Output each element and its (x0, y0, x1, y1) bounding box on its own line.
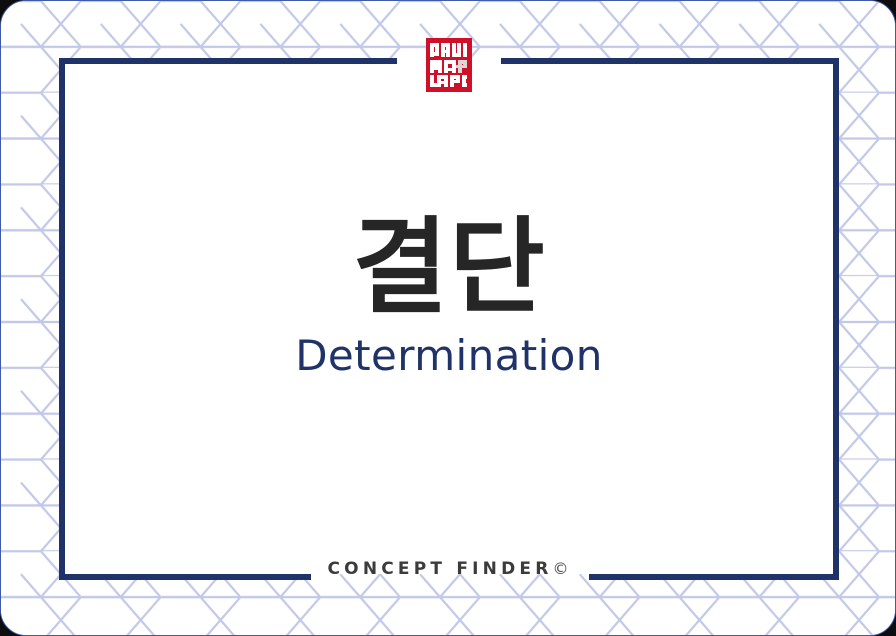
inner-panel (59, 58, 839, 574)
footer-wordmark-text: CONCEPT FINDER (328, 559, 553, 579)
frame-border-top-right (501, 58, 839, 64)
concept-card: 결단 Determination CONCEPT FINDER© (0, 0, 896, 636)
frame-border-top-left (59, 58, 397, 64)
footer-wordmark: CONCEPT FINDER© (1, 559, 895, 579)
frame-border-right (833, 58, 839, 580)
copyright-icon: © (553, 559, 569, 578)
frame-border-left (59, 58, 65, 580)
paul-mark-seal-logo (426, 38, 472, 92)
